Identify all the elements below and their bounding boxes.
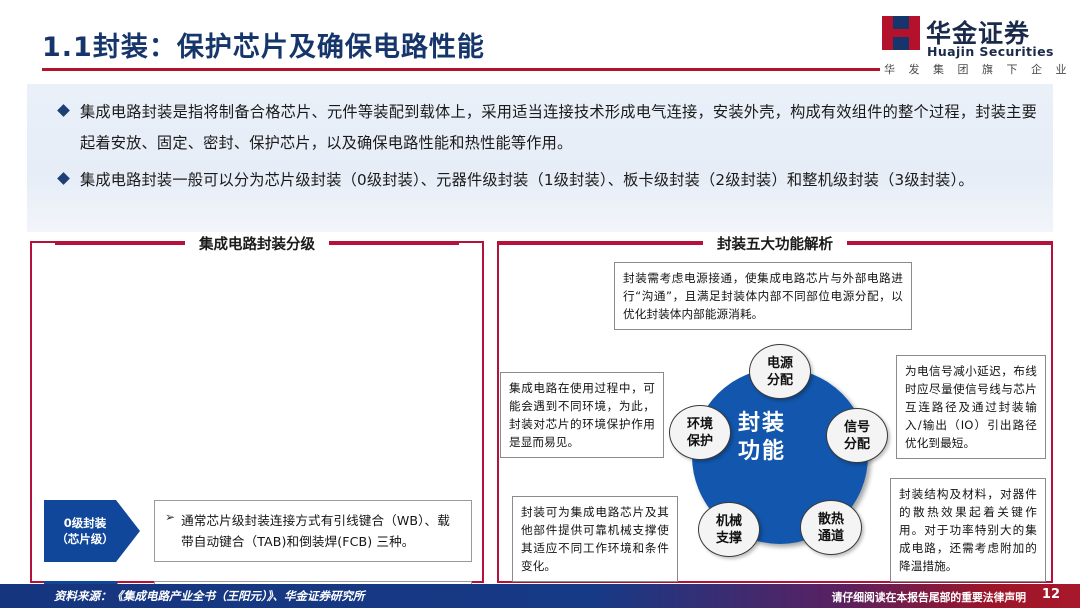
node-signal-line1: 信号 (844, 419, 870, 436)
footer-bar: 资料来源：《集成电路产业全书（王阳元）》、华金证券研究所 请仔细阅读在本报告尾部… (0, 584, 1080, 608)
intro-bullet-1-text: 集成电路封装是指将制备合格芯片、元件等装配到载体上，采用适当连接技术形成电气连接… (80, 97, 1037, 159)
level-row-0[interactable]: 0级封装 （芯片级） ➢ 通常芯片级封装连接方式有引线键合（WB）、载带自动键合… (44, 500, 472, 562)
slide-root: 1.1封装：保护芯片及确保电路性能 华金证券 Huajin Securities… (0, 0, 1080, 608)
node-mech-line1: 机械 (716, 513, 742, 530)
wheel-core-line2: 功能 (738, 438, 786, 466)
node-env-line2: 保护 (687, 433, 713, 450)
wheel-core-line1: 封装 (738, 410, 786, 438)
callout-environment-protection: 集成电路在使用过程中，可能会遇到不同环境，为此，封装对芯片的环境保护作用是显而易… (500, 372, 664, 458)
wheel-node-mechanical-support[interactable]: 机械 支撑 (698, 502, 760, 557)
callout-power-distribution: 封装需考虑电源接通，使集成电路芯片与外部电路进行“沟通”，且满足封装体内部不同部… (614, 262, 912, 330)
wheel-node-environment-protection[interactable]: 环境 保护 (669, 405, 731, 460)
node-power-line1: 电源 (767, 355, 793, 372)
header-rule-right (329, 242, 459, 245)
title-underline (42, 68, 880, 71)
company-logo: 华金证券 Huajin Securities 华 发 集 团 旗 下 企 业 (882, 14, 1068, 74)
level-0-chevron: 0级封装 （芯片级） (44, 500, 140, 562)
diamond-bullet-icon (57, 104, 70, 117)
intro-panel: 集成电路封装是指将制备合格芯片、元件等装配到载体上，采用适当连接技术形成电气连接… (27, 84, 1053, 232)
arrow-marker-icon: ➢ (165, 507, 175, 524)
huajin-logo-mark-icon (882, 16, 920, 50)
intro-bullet-1: 集成电路封装是指将制备合格芯片、元件等装配到载体上，采用适当连接技术形成电气连接… (43, 97, 1037, 159)
header-rule-right (847, 242, 1052, 245)
wheel-node-heat-channel[interactable]: 散热 通道 (800, 500, 862, 555)
wheel-node-signal-distribution[interactable]: 信号 分配 (826, 408, 888, 463)
level-0-tag-line1: 0级封装 (64, 515, 107, 531)
footer-disclaimer: 请仔细阅读在本报告尾部的重要法律声明 (832, 589, 1026, 605)
packaging-function-wheel: 封装 功能 电源 分配 信号 分配 散热 通道 机械 支撑 环境 保护 (674, 350, 886, 562)
node-power-line2: 分配 (767, 372, 793, 389)
header-rule-left (55, 242, 185, 245)
right-panel-caption: 封装五大功能解析 (703, 233, 847, 254)
right-panel-header: 封装五大功能解析 (499, 233, 1051, 254)
node-heat-line2: 通道 (818, 528, 844, 545)
diamond-bullet-icon (57, 172, 70, 185)
callout-mechanical-support: 封装可为集成电路芯片及其他部件提供可靠机械支撑使其适应不同工作环境和条件变化。 (512, 496, 678, 582)
node-mech-line2: 支撑 (716, 530, 742, 547)
node-heat-line1: 散热 (818, 511, 844, 528)
level-0-gap (140, 500, 154, 562)
left-panel-caption: 集成电路封装分级 (185, 233, 329, 254)
level-0-description: 通常芯片级封装连接方式有引线键合（WB）、载带自动键合（TAB)和倒装焊(FCB… (181, 510, 461, 552)
intro-bullet-2: 集成电路封装一般可以分为芯片级封装（0级封装）、元器件级封装（1级封装）、板卡级… (43, 165, 1037, 196)
node-signal-line2: 分配 (844, 436, 870, 453)
footer-page-number: 12 (1042, 587, 1060, 602)
page-title: 1.1封装：保护芯片及确保电路性能 (42, 25, 485, 64)
callout-signal-distribution: 为电信号减小延迟，布线时应尽量使信号线与芯片互连路径及通过封装输入/输出（IO）… (896, 355, 1046, 459)
logo-subtitle: 华 发 集 团 旗 下 企 业 (884, 61, 1071, 77)
logo-english-name: Huajin Securities (927, 44, 1054, 59)
intro-bullet-2-text: 集成电路封装一般可以分为芯片级封装（0级封装）、元器件级封装（1级封装）、板卡级… (80, 165, 974, 196)
wheel-node-power-distribution[interactable]: 电源 分配 (749, 344, 811, 399)
header-rule-left (498, 242, 703, 245)
packaging-levels-panel: 集成电路封装分级 0级封装 （芯片级） ➢ 通常芯片级封装连接方式有引线键合（W… (30, 241, 484, 583)
level-0-tag-line2: （芯片级） (56, 531, 114, 547)
left-panel-header: 集成电路封装分级 (32, 233, 482, 254)
callout-heat-dissipation: 封装结构及材料，对器件的散热效果起着关键作用。对于功率特别大的集成电路，还需考虑… (890, 478, 1046, 582)
node-env-line1: 环境 (687, 416, 713, 433)
level-0-description-box: ➢ 通常芯片级封装连接方式有引线键合（WB）、载带自动键合（TAB)和倒装焊(F… (154, 500, 472, 562)
footer-source: 资料来源：《集成电路产业全书（王阳元）》、华金证券研究所 (54, 588, 365, 604)
